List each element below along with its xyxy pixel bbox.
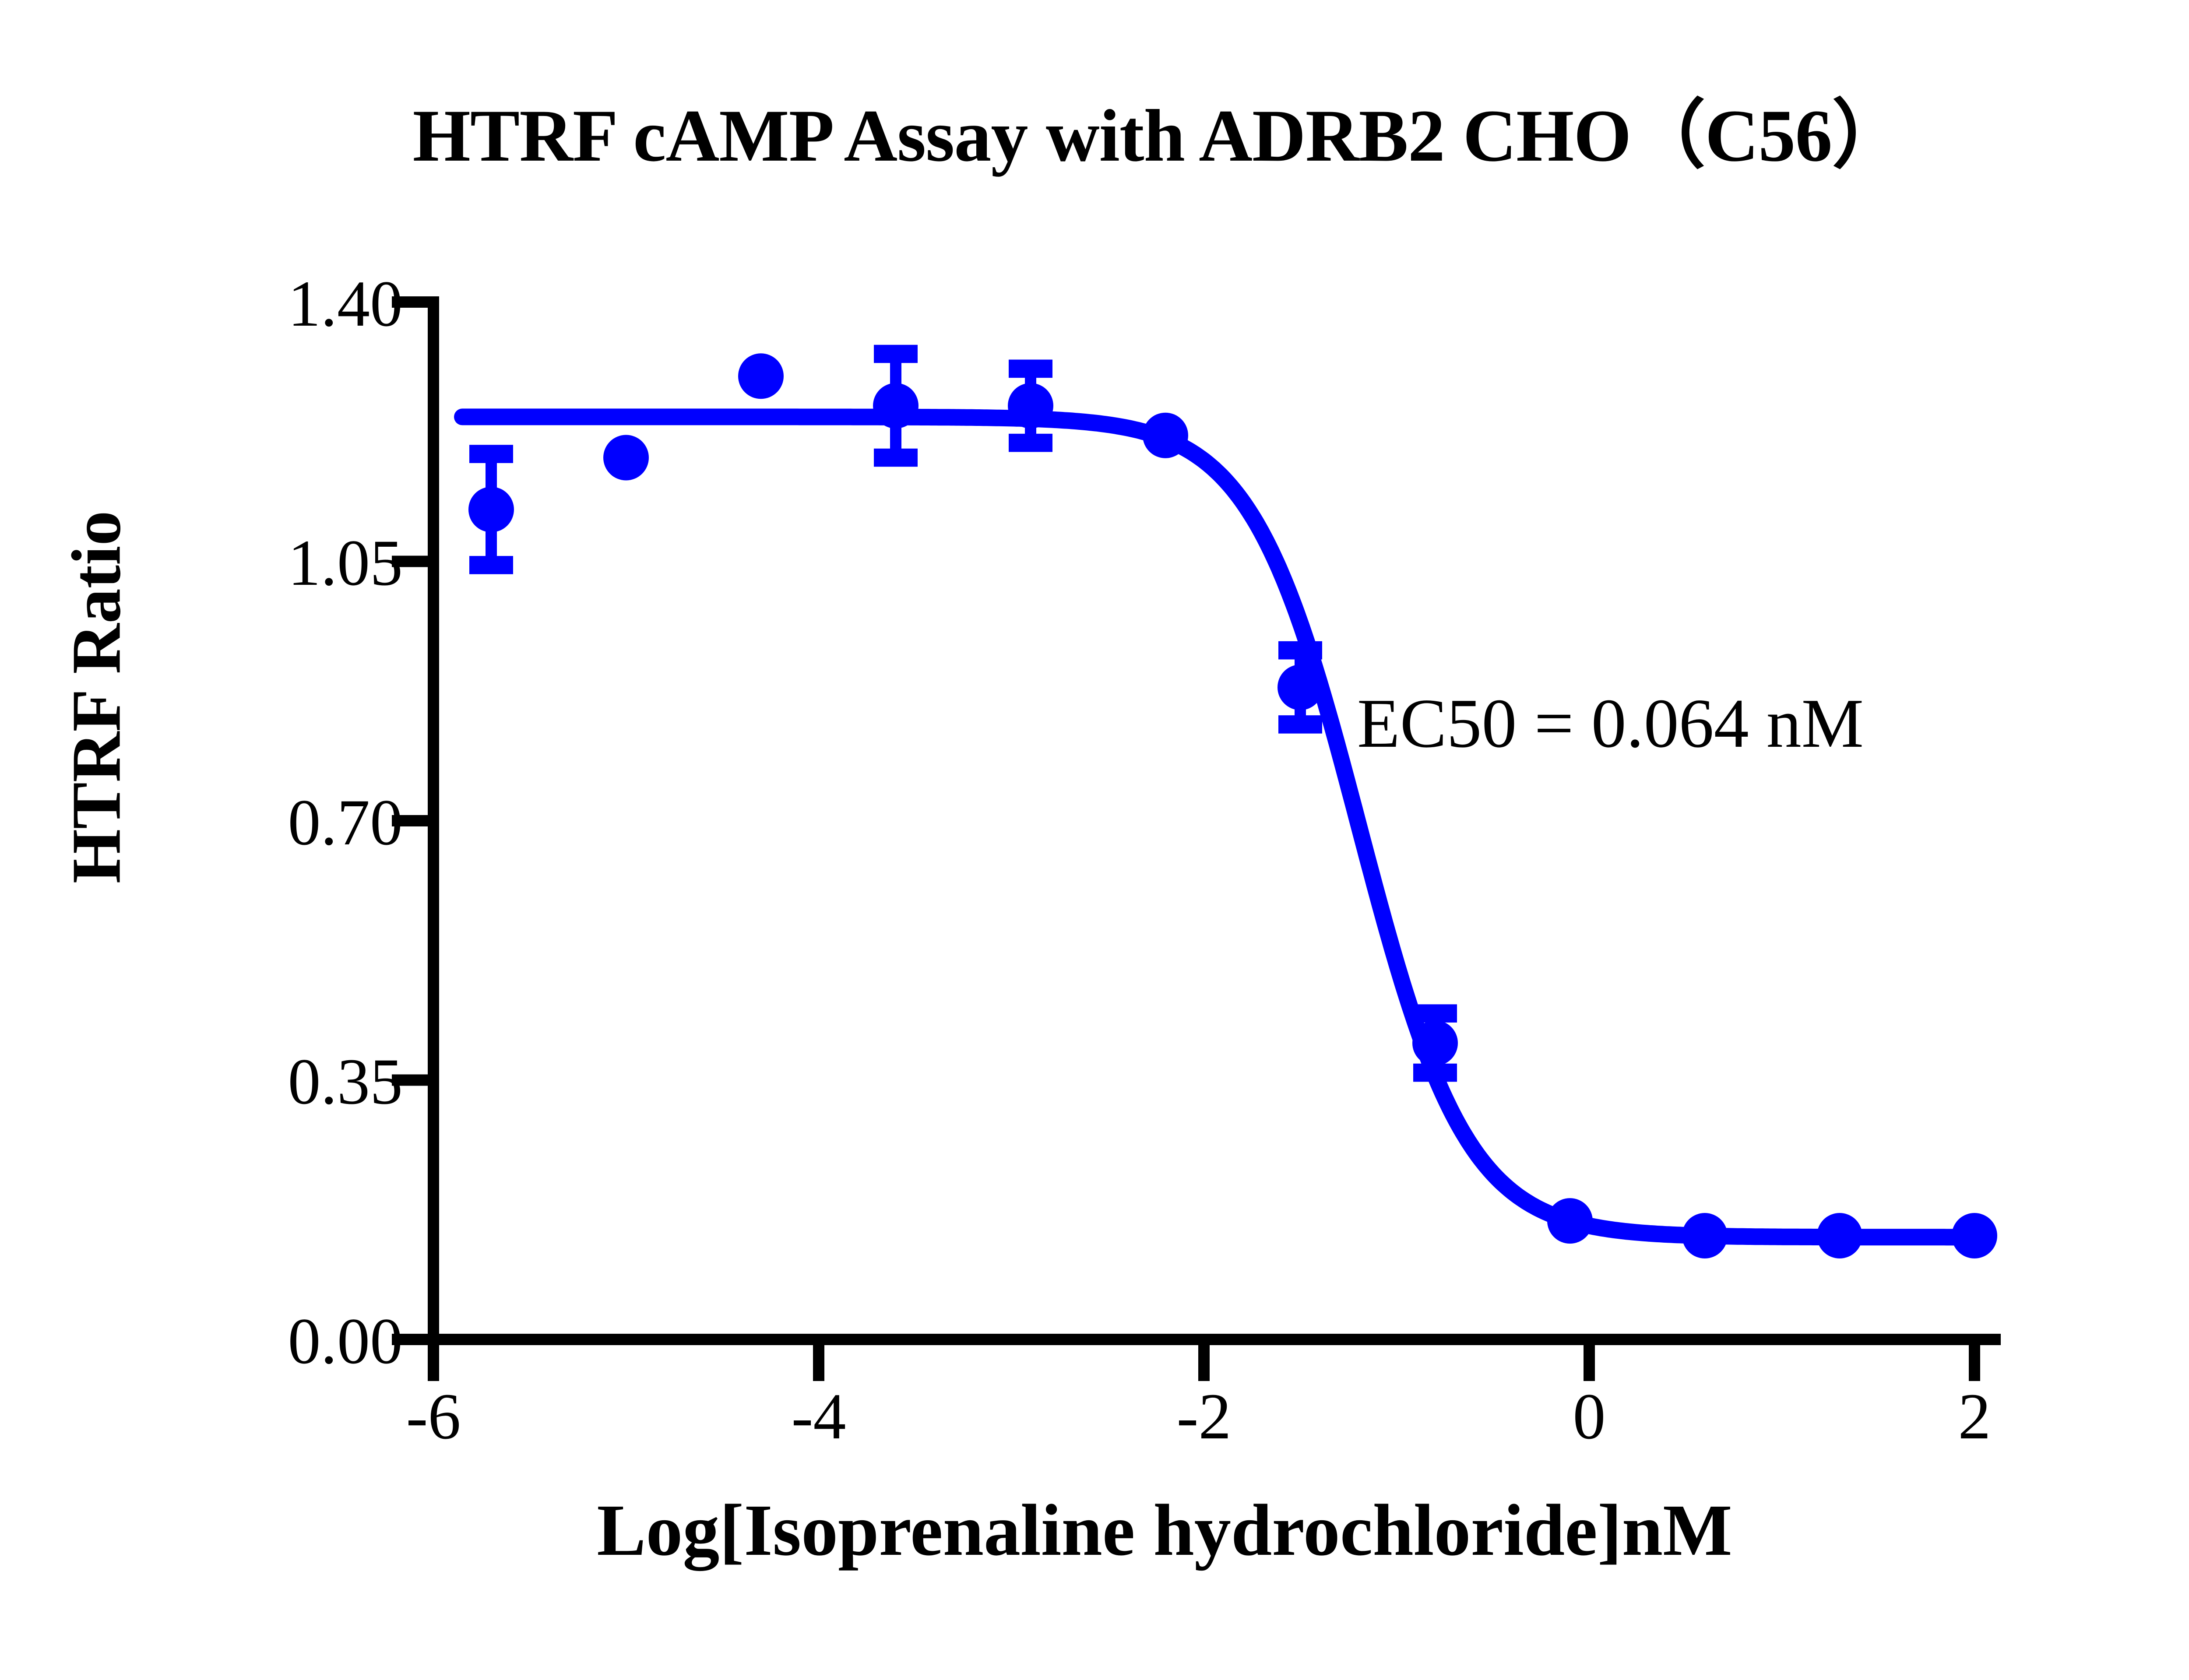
fit-curve [462,417,1974,1237]
plot-area [0,0,2189,1680]
chart-figure: HTRF cAMP Assay with ADRB2 CHO（C56） HTRF… [0,0,2189,1680]
